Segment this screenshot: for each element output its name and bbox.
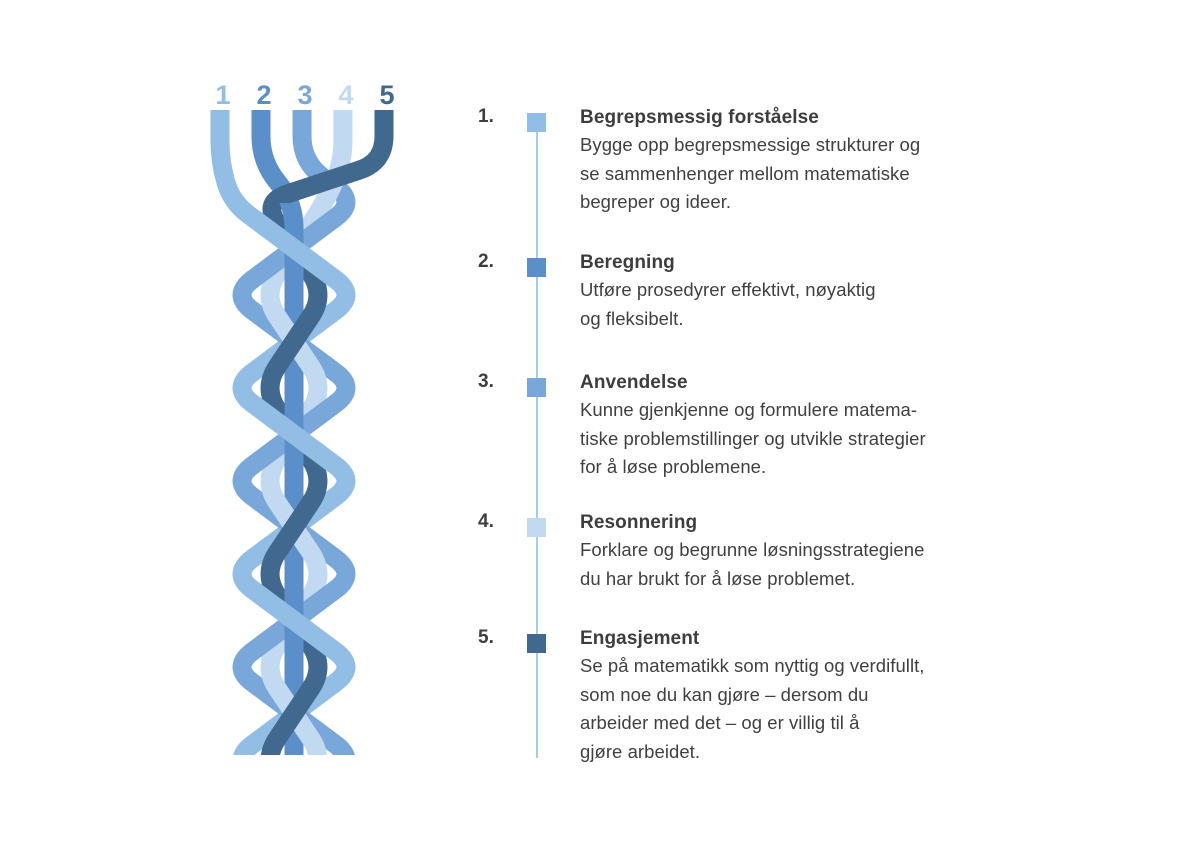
legend-title: Anvendelse: [580, 369, 1090, 396]
legend-index: 3.: [478, 369, 494, 395]
legend-title: Beregning: [580, 249, 1090, 276]
braid-number-5: 5: [373, 78, 401, 112]
legend-description: Kunne gjenkjenne og formulere matema- ti…: [580, 396, 1090, 482]
legend-color-swatch: [527, 378, 546, 397]
legend-index: 5.: [478, 625, 494, 651]
legend-index: 1.: [478, 104, 494, 130]
legend-index: 2.: [478, 249, 494, 275]
legend-description: Utføre prosedyrer effektivt, nøyaktig og…: [580, 276, 1090, 333]
braid-graphic: [196, 110, 416, 760]
legend-title: Begrepsmessig forståelse: [580, 104, 1090, 131]
legend-title: Resonnering: [580, 509, 1090, 536]
infographic-canvas: 12345 1.Begrepsmessig forståelseBygge op…: [0, 0, 1200, 848]
legend-item-3[interactable]: 3.AnvendelseKunne gjenkjenne og formuler…: [470, 369, 1090, 482]
legend-body: BeregningUtføre prosedyrer effektivt, nø…: [580, 249, 1090, 333]
legend-item-4[interactable]: 4.ResonneringForklare og begrunne løsnin…: [470, 509, 1090, 593]
legend-description: Se på matematikk som nyttig og verdifull…: [580, 652, 1090, 766]
braid-number-4: 4: [332, 78, 360, 112]
braid-number-3: 3: [291, 78, 319, 112]
legend-item-2[interactable]: 2.BeregningUtføre prosedyrer effektivt, …: [470, 249, 1090, 333]
legend-description: Forklare og begrunne løsningsstrategiene…: [580, 536, 1090, 593]
legend-item-5[interactable]: 5.EngasjementSe på matematikk som nyttig…: [470, 625, 1090, 766]
legend-color-swatch: [527, 518, 546, 537]
legend-title: Engasjement: [580, 625, 1090, 652]
legend-body: EngasjementSe på matematikk som nyttig o…: [580, 625, 1090, 766]
braid-number-row: 12345: [196, 78, 416, 112]
legend-color-swatch: [527, 634, 546, 653]
legend-body: AnvendelseKunne gjenkjenne og formulere …: [580, 369, 1090, 482]
legend-body: ResonneringForklare og begrunne løsnings…: [580, 509, 1090, 593]
braid-diagram: 12345: [0, 0, 460, 848]
legend-index: 4.: [478, 509, 494, 535]
legend-item-1[interactable]: 1.Begrepsmessig forståelseBygge opp begr…: [470, 104, 1090, 217]
legend-description: Bygge opp begrepsmessige strukturer og s…: [580, 131, 1090, 217]
legend-color-swatch: [527, 113, 546, 132]
braid-number-1: 1: [209, 78, 237, 112]
braid-number-2: 2: [250, 78, 278, 112]
legend-body: Begrepsmessig forståelseBygge opp begrep…: [580, 104, 1090, 217]
legend-color-swatch: [527, 258, 546, 277]
